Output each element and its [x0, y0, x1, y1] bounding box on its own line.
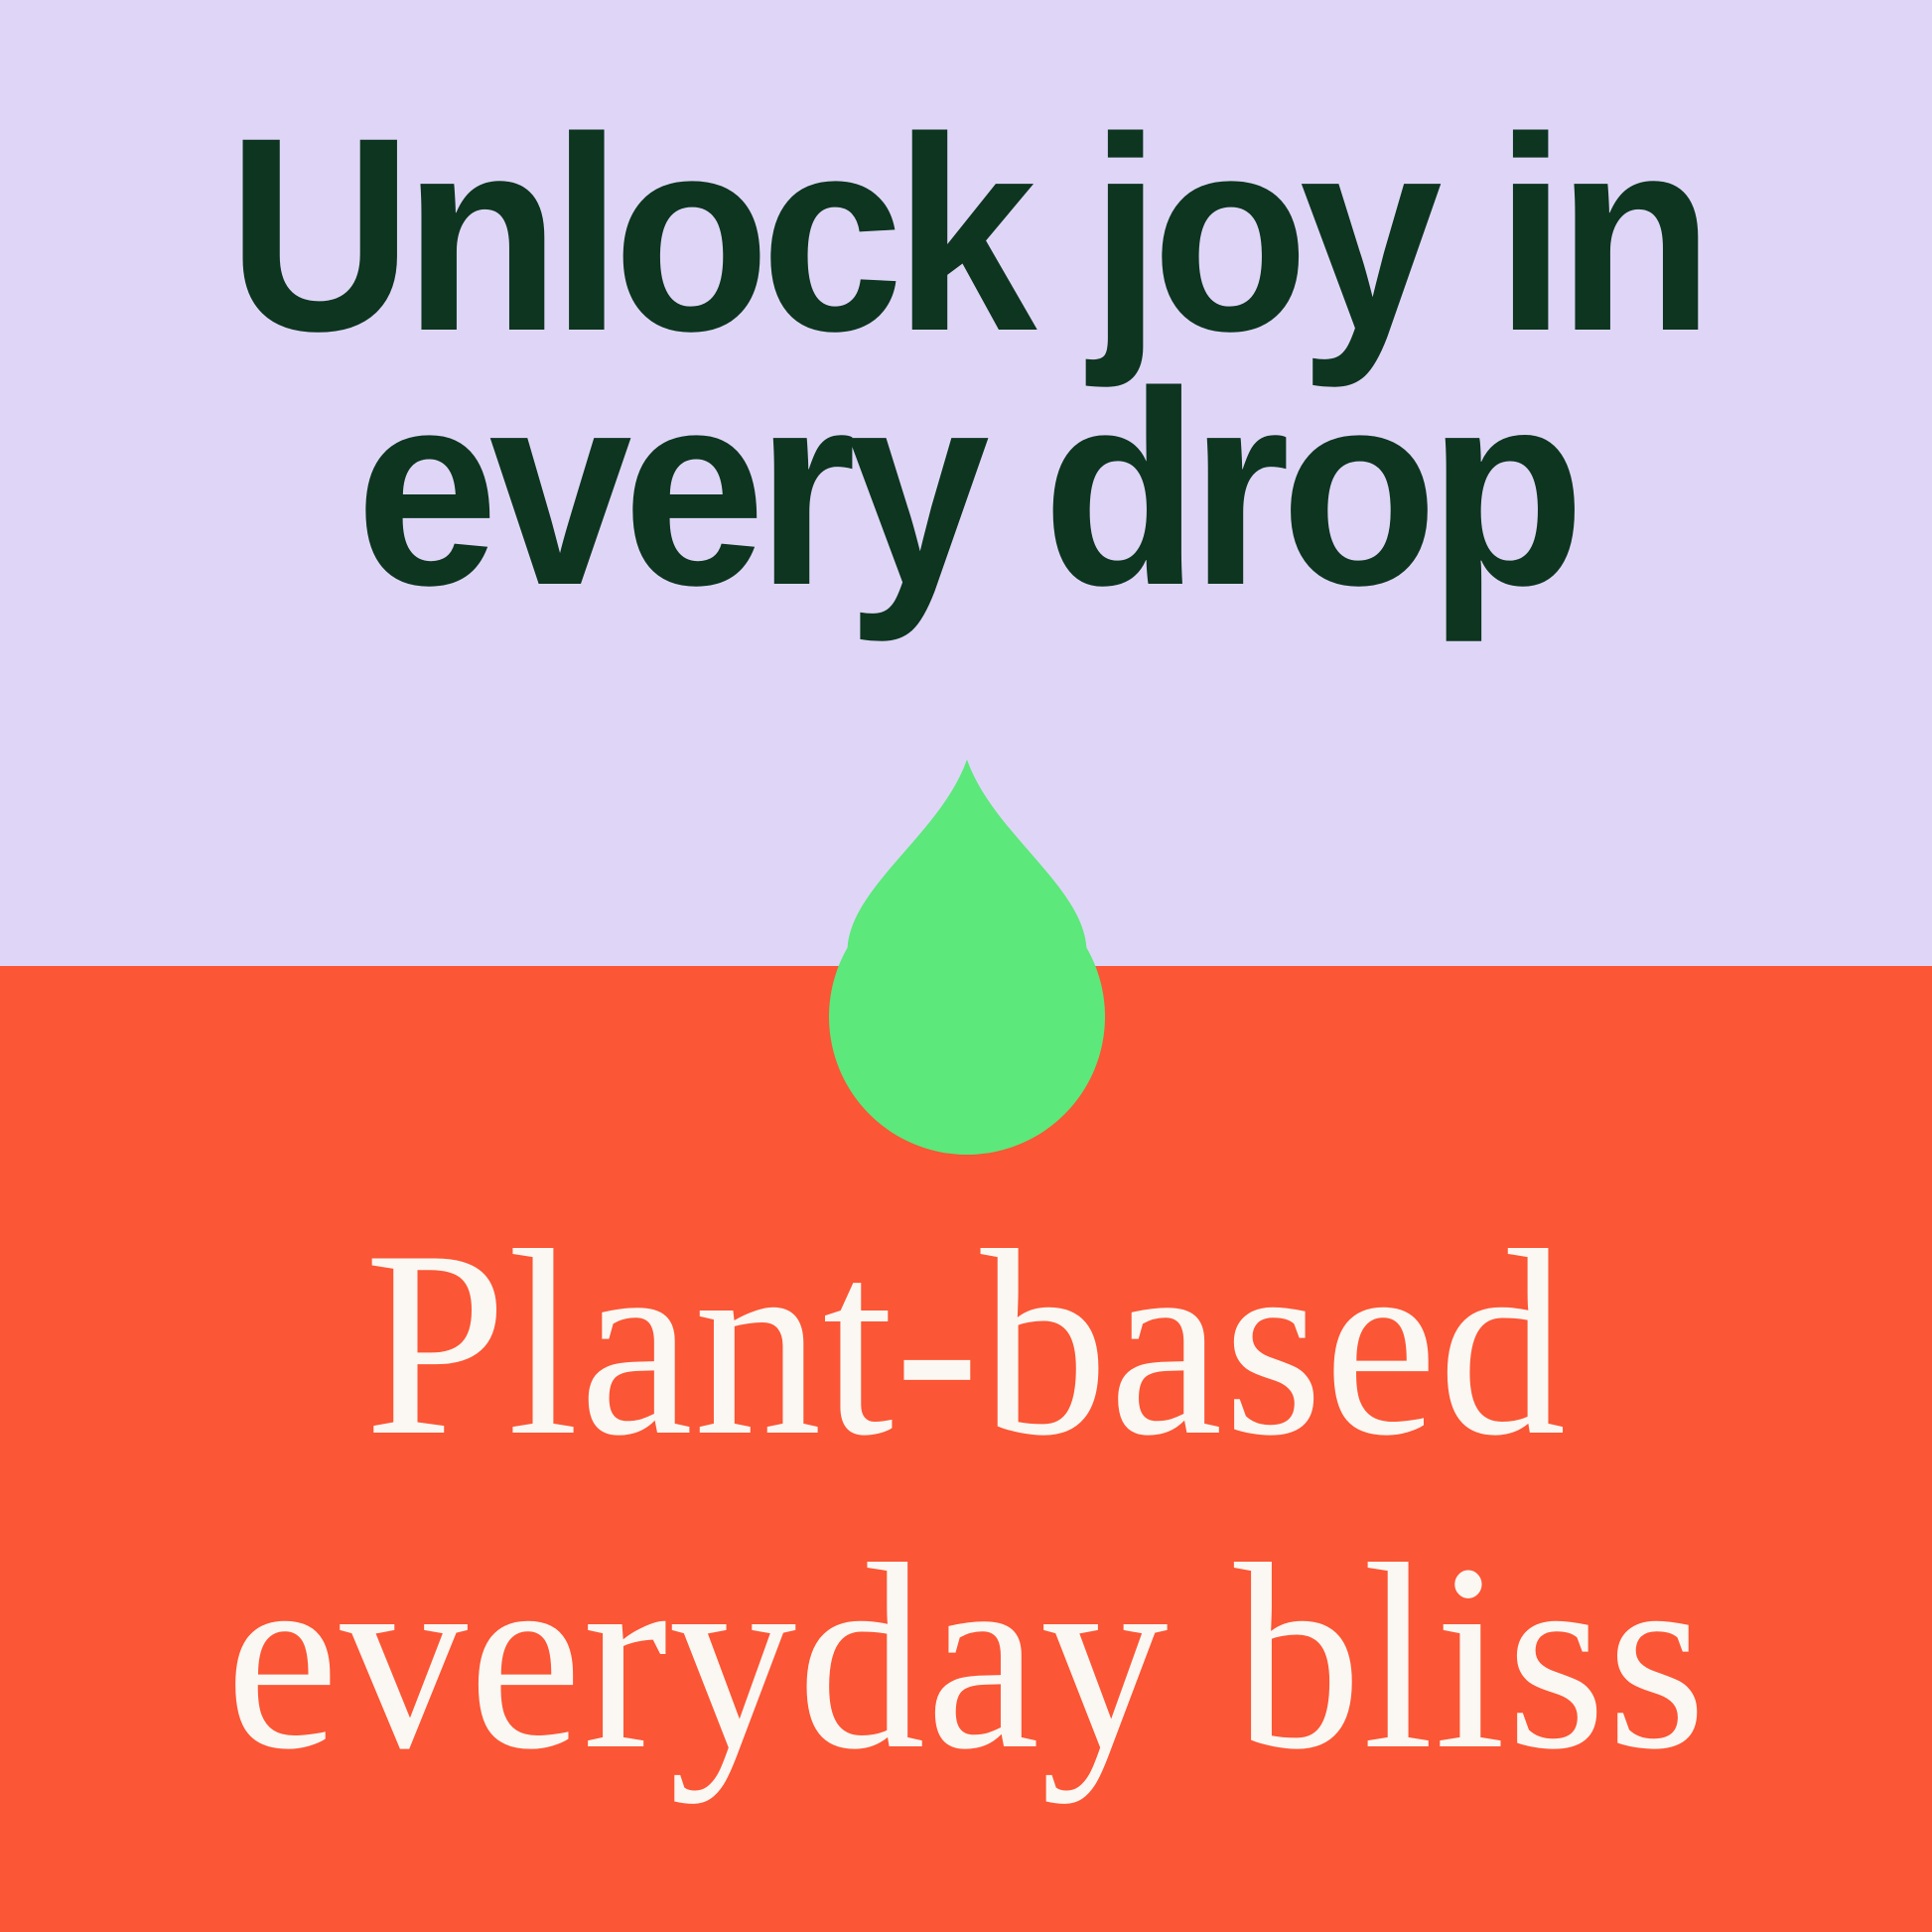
top-color-band — [0, 0, 1932, 966]
promo-poster: Unlock joy in every drop Plant-based eve… — [0, 0, 1932, 1932]
bottom-color-band — [0, 966, 1932, 1932]
